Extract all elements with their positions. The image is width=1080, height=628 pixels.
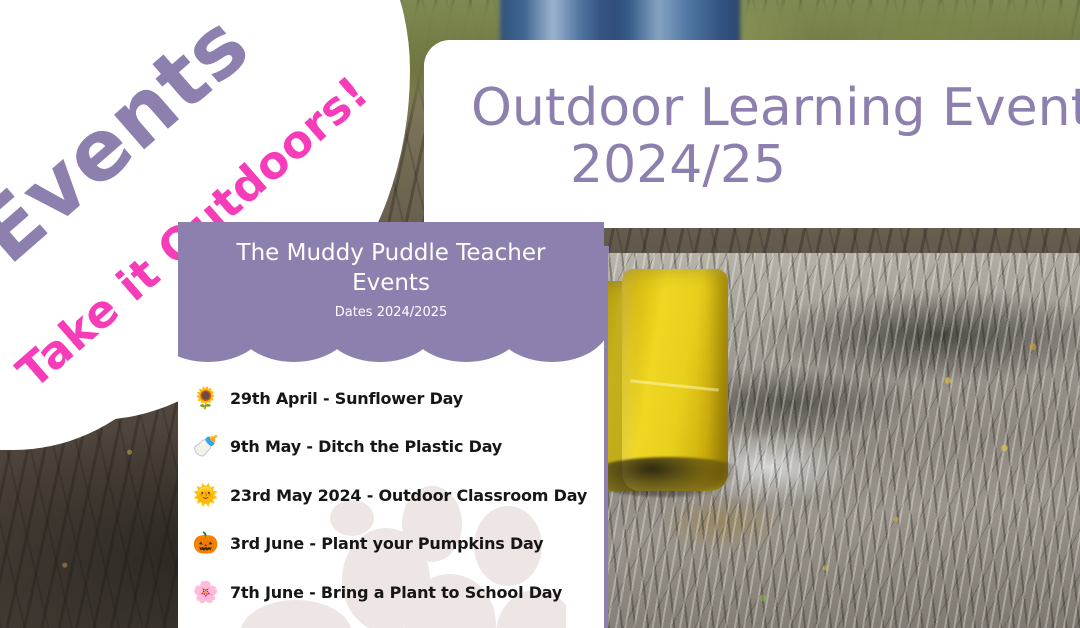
sunflower-icon: 🌻 bbox=[192, 388, 220, 409]
page-title: Outdoor Learning Event bbox=[471, 80, 1080, 136]
list-item-label: 23rd May 2024 - Outdoor Classroom Day bbox=[230, 486, 587, 505]
blossom-icon: 🌸 bbox=[192, 582, 220, 603]
list-item[interactable]: 🎃 3rd June - Plant your Pumpkins Day bbox=[192, 520, 590, 569]
events-list: 🌻 29th April - Sunflower Day 🍼 9th May -… bbox=[178, 374, 604, 617]
sun-icon: 🌞 bbox=[192, 485, 220, 506]
list-item-label: 3rd June - Plant your Pumpkins Day bbox=[230, 534, 543, 553]
list-item-label: 29th April - Sunflower Day bbox=[230, 389, 463, 408]
events-card-header: The Muddy Puddle Teacher Events Dates 20… bbox=[178, 222, 604, 366]
events-card: The Muddy Puddle Teacher Events Dates 20… bbox=[178, 222, 604, 628]
pumpkin-icon: 🎃 bbox=[192, 533, 220, 554]
scalloped-edge-decoration bbox=[178, 284, 604, 366]
list-item[interactable]: 🌸 7th June - Bring a Plant to School Day bbox=[192, 568, 590, 617]
puddle-photo-panel bbox=[608, 253, 1080, 628]
list-item[interactable]: 🍼 9th May - Ditch the Plastic Day bbox=[192, 423, 590, 472]
title-card: Outdoor Learning Event 2024/25 bbox=[424, 40, 1080, 228]
list-item-label: 9th May - Ditch the Plastic Day bbox=[230, 437, 502, 456]
list-item[interactable]: 🌞 23rd May 2024 - Outdoor Classroom Day bbox=[192, 471, 590, 520]
poster-canvas: Events Take it Outdoors! Outdoor Learnin… bbox=[0, 0, 1080, 628]
page-title-year: 2024/25 bbox=[570, 136, 786, 194]
wellington-boots-icon bbox=[608, 253, 748, 491]
list-item-label: 7th June - Bring a Plant to School Day bbox=[230, 583, 562, 602]
bottle-icon: 🍼 bbox=[192, 436, 220, 457]
list-item[interactable]: 🌻 29th April - Sunflower Day bbox=[192, 374, 590, 423]
